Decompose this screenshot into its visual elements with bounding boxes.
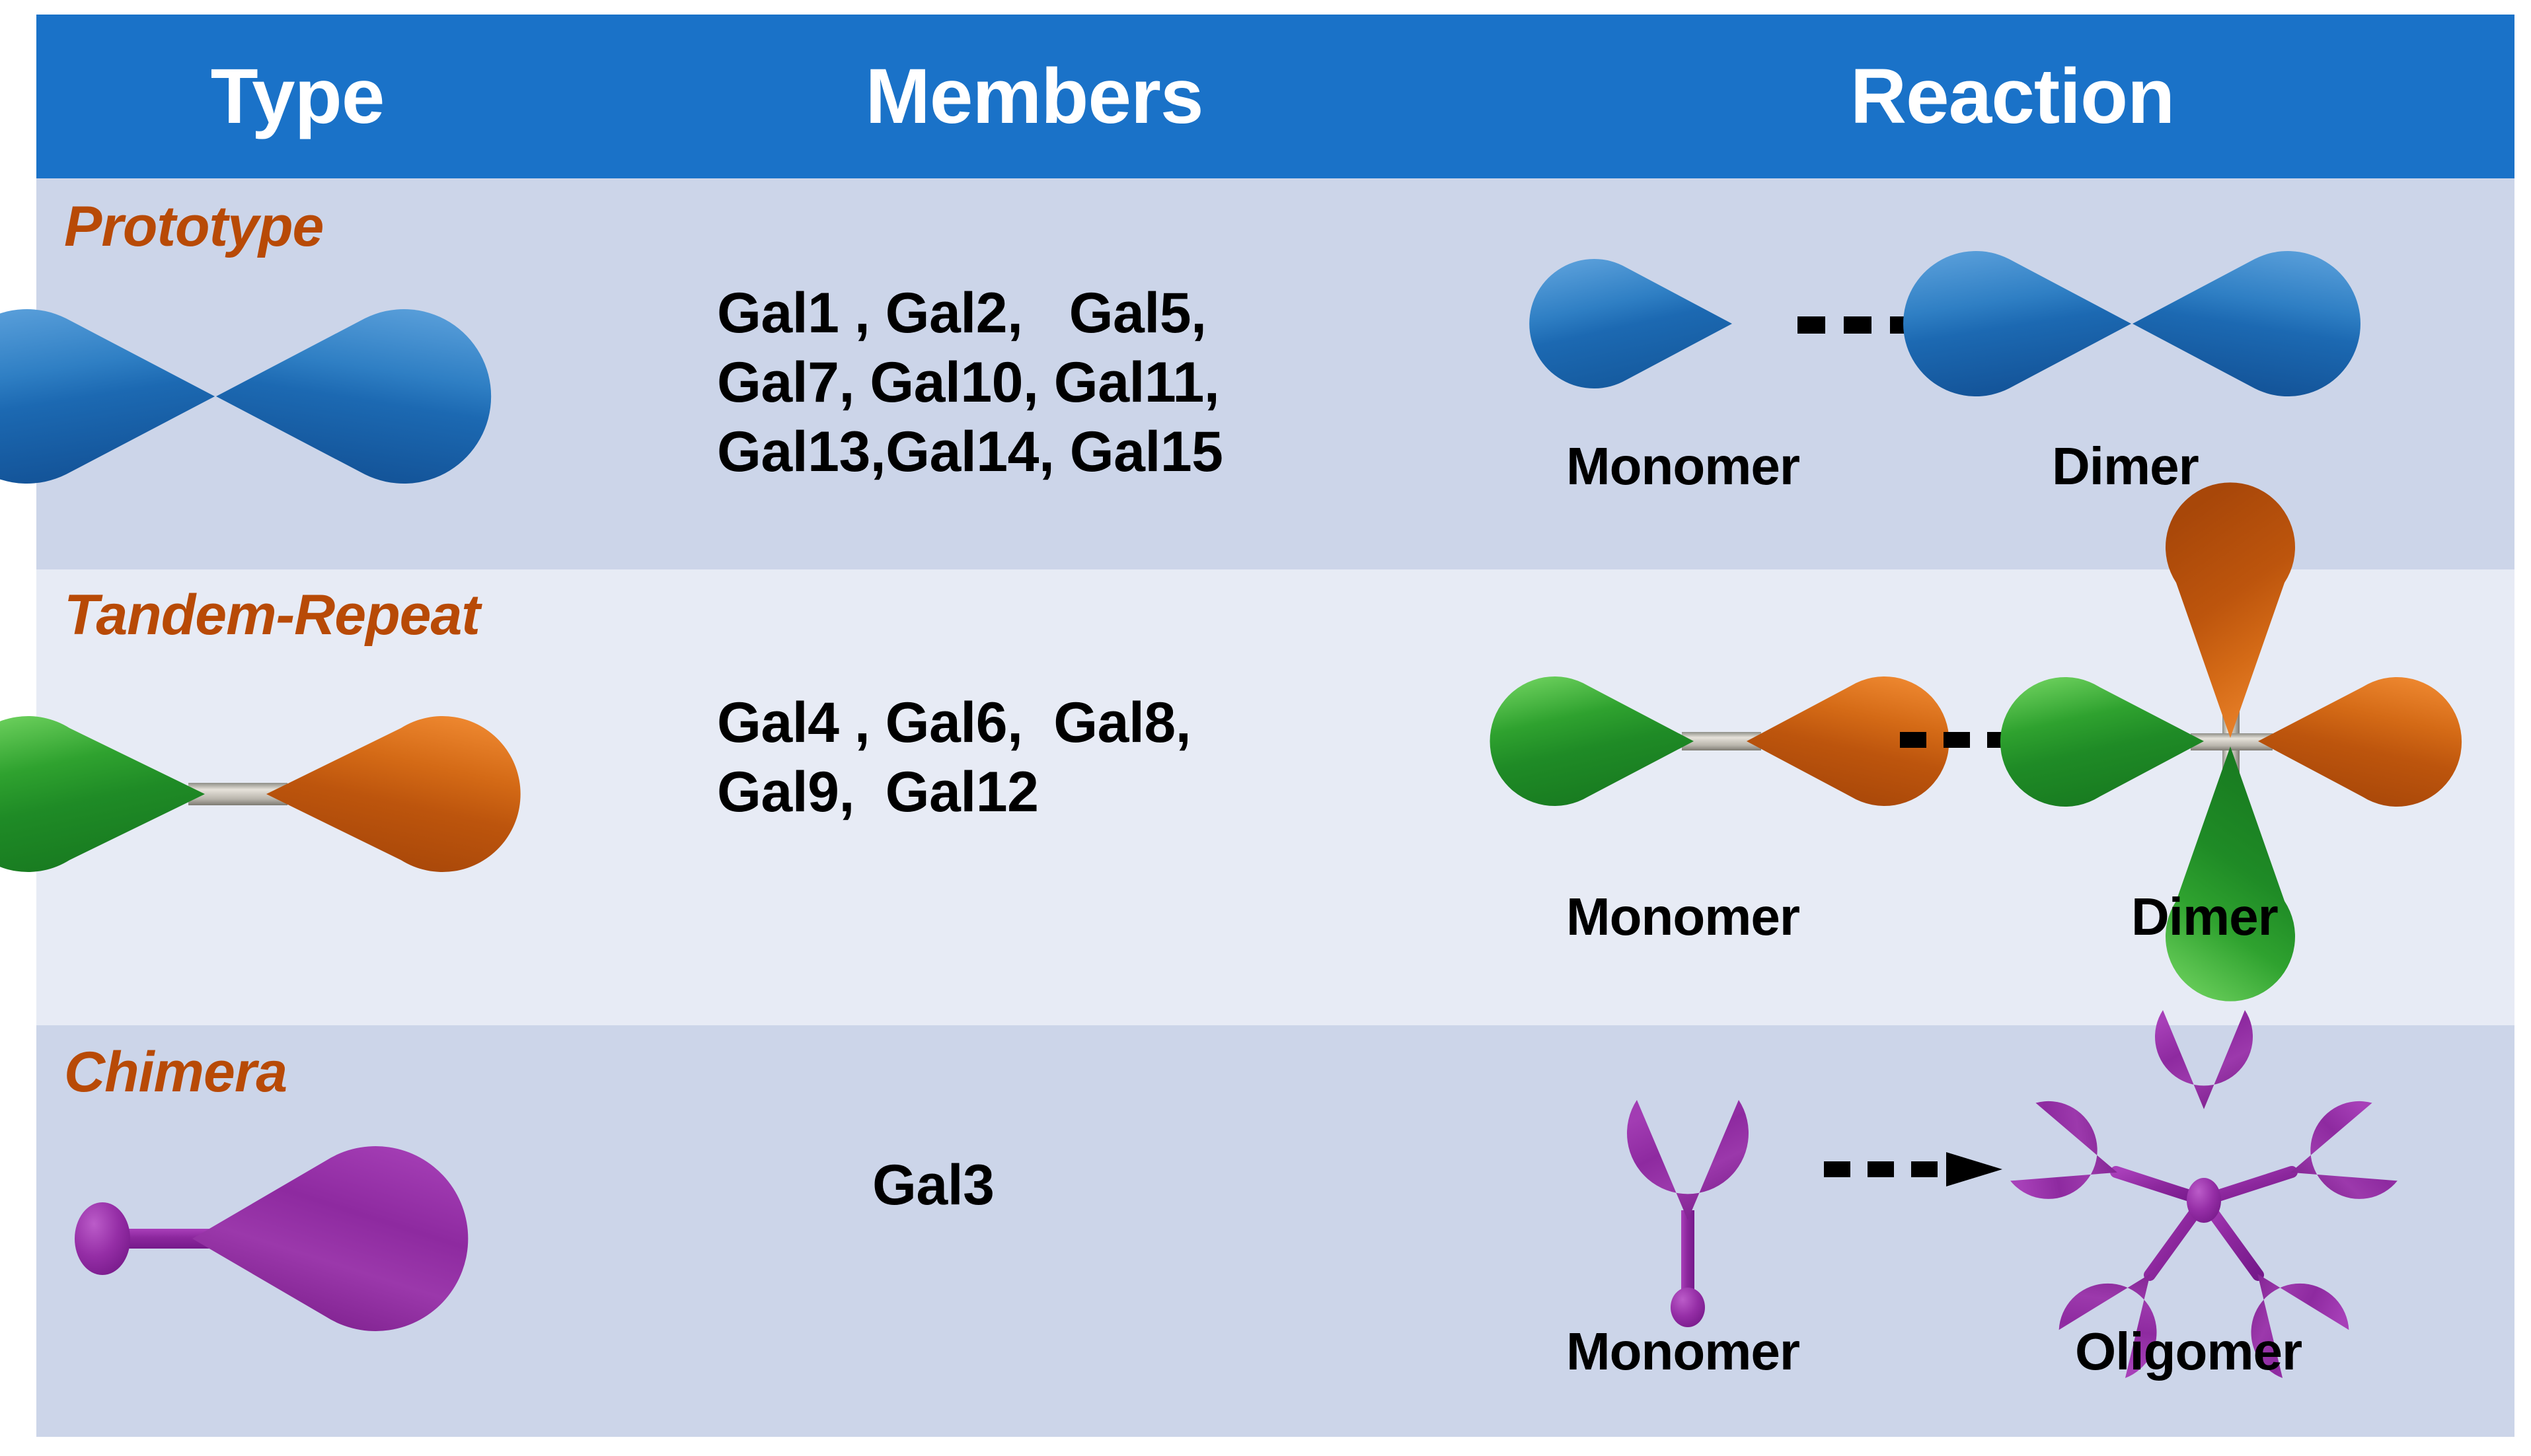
green-orange-cross-dimer-icon <box>2085 576 2376 906</box>
reaction-label-left: Monomer <box>1566 436 1799 497</box>
table-header-row: Type Members Reaction <box>36 15 2514 178</box>
reaction-label-right: Dimer <box>2131 887 2278 947</box>
dashed-arrow-right-icon <box>1821 1151 2006 1188</box>
reaction-cell-prototype: Monomer Dimer <box>1510 178 2514 569</box>
column-header-type: Type <box>36 15 558 178</box>
reaction-label-right: Dimer <box>2052 436 2199 497</box>
table-row: Chimera Gal3 <box>36 1025 2514 1437</box>
blue-monomer-icon <box>1603 244 1761 403</box>
type-label-prototype: Prototype <box>64 194 323 260</box>
blue-dimer-icon <box>63 284 367 509</box>
purple-chimera-monomer-icon <box>1622 1095 1755 1326</box>
galectin-types-table: Type Members Reaction Prototype <box>36 15 2514 1437</box>
purple-pentamer-oligomer-icon <box>2032 1038 2376 1356</box>
reaction-cell-tandem-repeat: Monomer Dimer <box>1510 569 2514 1025</box>
purple-chimera-icon <box>61 1134 405 1346</box>
reaction-label-left: Monomer <box>1566 887 1799 947</box>
blue-dimer-icon <box>2006 231 2257 416</box>
reaction-cell-chimera: Monomer Oligomer <box>1510 1025 2514 1437</box>
green-orange-tandem-icon <box>56 698 413 890</box>
reaction-label-right: Oligomer <box>2075 1321 2302 1382</box>
type-label-tandem-repeat: Tandem-Repeat <box>64 583 480 648</box>
green-orange-tandem-icon <box>1576 662 1860 820</box>
type-label-chimera: Chimera <box>64 1040 287 1105</box>
reaction-label-left: Monomer <box>1566 1321 1799 1382</box>
column-header-members: Members <box>558 15 1510 178</box>
column-header-reaction: Reaction <box>1510 15 2514 178</box>
table-row: Tandem-Repeat <box>36 569 2514 1025</box>
table-row: Prototype Gal1 , Gal <box>36 178 2514 569</box>
